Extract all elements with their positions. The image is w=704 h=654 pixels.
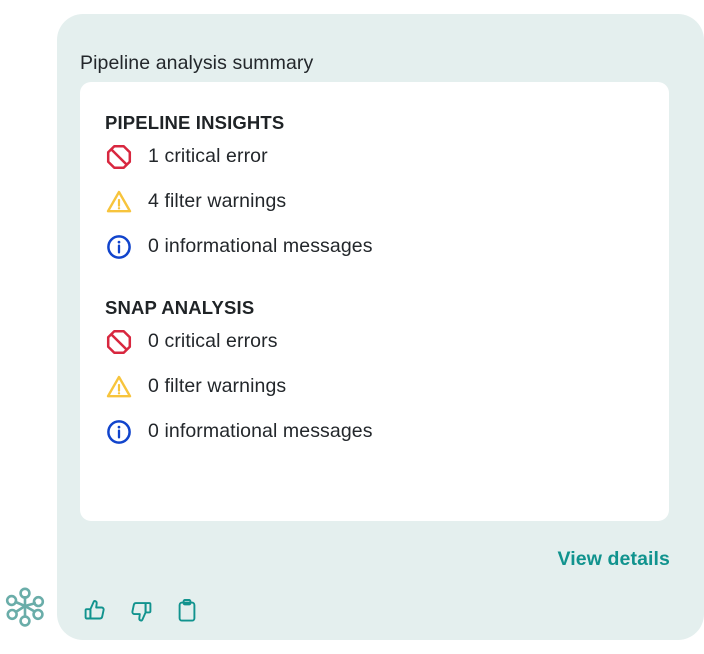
- stat-label: 0 filter warnings: [148, 375, 286, 398]
- warning-triangle-icon: [105, 188, 133, 216]
- stat-row: 0 informational messages: [105, 409, 669, 454]
- snap-analysis-list: 0 critical errors 0 filter warnings: [105, 319, 669, 454]
- pipeline-insights-list: 1 critical error 4 filter warnings: [105, 134, 669, 269]
- prohibition-icon: [105, 143, 133, 171]
- thumbs-up-icon: [80, 596, 110, 626]
- stat-label: 0 informational messages: [148, 420, 373, 443]
- prohibition-icon: [105, 328, 133, 356]
- stat-label: 0 critical errors: [148, 330, 278, 353]
- network-nodes-logo: [2, 584, 48, 630]
- insights-panel: PIPELINE INSIGHTS 1 critical error: [80, 82, 669, 521]
- section-heading-pipeline-insights: PIPELINE INSIGHTS: [105, 112, 669, 134]
- stat-label: 1 critical error: [148, 145, 268, 168]
- copy-button[interactable]: [172, 596, 202, 626]
- stat-row: 0 critical errors: [105, 319, 669, 364]
- info-circle-icon: [105, 233, 133, 261]
- feedback-bar: [80, 596, 202, 626]
- stat-row: 0 informational messages: [105, 224, 669, 269]
- stat-label: 0 informational messages: [148, 235, 373, 258]
- warning-triangle-icon: [105, 373, 133, 401]
- thumbs-down-icon: [126, 596, 156, 626]
- info-circle-icon: [105, 418, 133, 446]
- section-heading-snap-analysis: SNAP ANALYSIS: [105, 297, 669, 319]
- stat-row: 4 filter warnings: [105, 179, 669, 224]
- pipeline-analysis-summary-card: Pipeline analysis summary PIPELINE INSIG…: [57, 14, 704, 640]
- stat-row: 0 filter warnings: [105, 364, 669, 409]
- stat-row: 1 critical error: [105, 134, 669, 179]
- view-details-link[interactable]: View details: [558, 548, 670, 571]
- card-title: Pipeline analysis summary: [80, 52, 313, 75]
- thumbs-up-button[interactable]: [80, 596, 110, 626]
- stat-label: 4 filter warnings: [148, 190, 286, 213]
- clipboard-copy-icon: [172, 596, 202, 626]
- thumbs-down-button[interactable]: [126, 596, 156, 626]
